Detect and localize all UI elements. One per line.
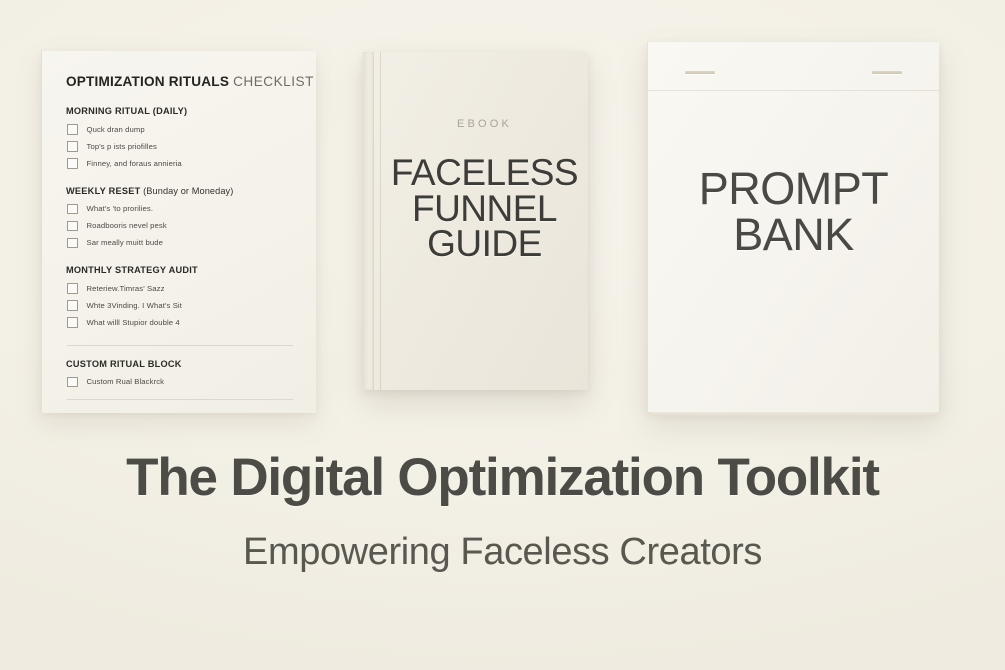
checklist-item-label: Custom Rual Blackrck <box>87 377 165 386</box>
checklist-item[interactable]: Whte 3Vinding. I What's Sit <box>67 300 293 311</box>
checkbox-icon[interactable] <box>67 317 78 328</box>
section-heading-strong: MONTHLY STRATEGY AUDIT <box>66 265 198 275</box>
checklist-item-label: Sar meally muitt bude <box>87 238 163 247</box>
section-heading-regular: (Bunday or Moneday) <box>140 186 233 196</box>
checklist-card: OPTIMIZATION RITUALS CHECKLIST MORNING R… <box>41 51 316 413</box>
checklist-section-monthly: MONTHLY STRATEGY AUDIT Reteriew.Timras' … <box>66 265 293 328</box>
section-heading: CUSTOM RITUAL BLOCK <box>66 359 293 369</box>
checklist-item[interactable]: Finney, and foraus annieria <box>67 158 293 169</box>
ebook-front-face: EBOOK FACELESS FUNNEL GUIDE <box>381 52 588 390</box>
section-heading: MORNING RITUAL (DAILY) <box>66 106 293 116</box>
checklist-section-custom: CUSTOM RITUAL BLOCK Custom Rual Blackrck <box>66 359 293 388</box>
notepad-cover: PROMPT BANK <box>647 42 939 412</box>
checklist-section-weekly: WEEKLY RESET (Bunday or Moneday) What's … <box>66 186 293 249</box>
checklist-item[interactable]: What's 'to prorilies. <box>67 204 293 215</box>
section-heading: WEEKLY RESET (Bunday or Moneday) <box>66 186 293 196</box>
checklist-item[interactable]: Sar meally muitt bude <box>67 238 293 249</box>
checklist-section-morning: MORNING RITUAL (DAILY) Quck dran dump To… <box>66 106 293 169</box>
poster-background: OPTIMIZATION RITUALS CHECKLIST MORNING R… <box>0 0 1005 670</box>
checklist-item[interactable]: What willl Stupior double 4 <box>67 317 293 328</box>
checkbox-icon[interactable] <box>67 283 78 294</box>
checklist-item-label: Reteriew.Timras' Sazz <box>87 284 165 293</box>
checkbox-icon[interactable] <box>67 300 78 311</box>
checklist-item-label: What willl Stupior double 4 <box>87 318 180 327</box>
section-divider <box>67 399 293 400</box>
section-heading: MONTHLY STRATEGY AUDIT <box>66 265 293 275</box>
checklist-title-light: CHECKLIST <box>233 74 314 89</box>
staple-mark-right-icon <box>872 71 902 74</box>
ebook-title: FACELESS FUNNEL GUIDE <box>391 155 578 262</box>
checklist-item-label: What's 'to prorilies. <box>87 204 154 213</box>
staple-mark-left-icon <box>685 71 715 74</box>
checkbox-icon[interactable] <box>67 124 78 135</box>
checkbox-icon[interactable] <box>67 158 78 169</box>
checklist-title-strong: OPTIMIZATION RITUALS <box>66 74 229 89</box>
section-heading-strong: CUSTOM RITUAL BLOCK <box>66 359 182 369</box>
notepad-header-rule <box>648 90 939 91</box>
ebook-spine <box>363 52 374 390</box>
section-divider <box>67 345 293 346</box>
page-subtitle: Empowering Faceless Creators <box>0 531 1005 574</box>
checkbox-icon[interactable] <box>67 221 78 232</box>
checklist-item[interactable]: Roadbooris nevel pesk <box>67 221 293 232</box>
checklist-item[interactable]: Top's p ists priofilles <box>67 141 293 152</box>
checkbox-icon[interactable] <box>67 204 78 215</box>
ebook-title-line-3: GUIDE <box>391 226 578 262</box>
checklist-item-label: Whte 3Vinding. I What's Sit <box>87 301 182 310</box>
section-heading-strong: MORNING RITUAL (DAILY) <box>66 106 187 116</box>
checkbox-icon[interactable] <box>67 141 78 152</box>
page-title: The Digital Optimization Toolkit <box>0 447 1005 508</box>
notepad-title: PROMPT BANK <box>648 166 939 258</box>
ebook-title-line-1: FACELESS <box>391 155 578 191</box>
checklist-item-label: Top's p ists priofilles <box>87 142 157 151</box>
checkbox-icon[interactable] <box>67 238 78 249</box>
checklist-item-label: Roadbooris nevel pesk <box>87 221 167 230</box>
checklist-item[interactable]: Quck dran dump <box>67 124 293 135</box>
notepad-edge-thickness <box>650 412 937 416</box>
checklist-item[interactable]: Reteriew.Timras' Sazz <box>67 283 293 294</box>
checklist-item[interactable]: Custom Rual Blackrck <box>67 377 293 388</box>
notepad-title-line-2: BANK <box>648 212 939 258</box>
checklist-title: OPTIMIZATION RITUALS CHECKLIST <box>66 74 293 89</box>
section-heading-strong: WEEKLY RESET <box>66 186 140 196</box>
ebook-title-line-2: FUNNEL <box>391 191 578 227</box>
notepad-title-line-1: PROMPT <box>648 166 939 212</box>
checkbox-icon[interactable] <box>67 377 78 388</box>
ebook-cover: EBOOK FACELESS FUNNEL GUIDE <box>363 52 588 390</box>
checklist-item-label: Finney, and foraus annieria <box>87 159 182 168</box>
checklist-item-label: Quck dran dump <box>87 125 145 134</box>
ebook-kicker-label: EBOOK <box>457 118 512 130</box>
